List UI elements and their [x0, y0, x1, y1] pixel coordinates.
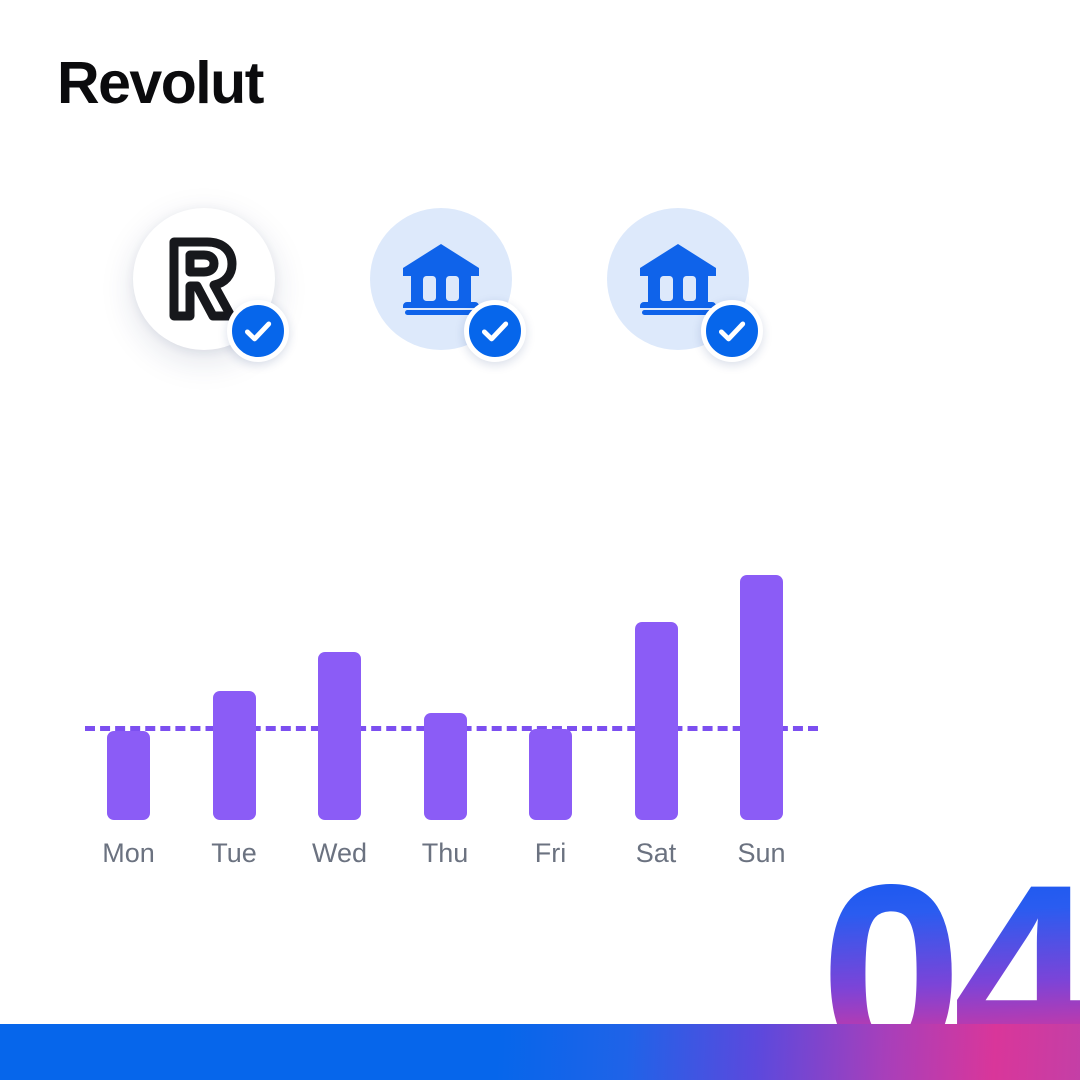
- x-axis-label: Thu: [400, 840, 490, 867]
- account-badge-revolut[interactable]: [133, 208, 275, 350]
- account-badge-bank-1[interactable]: [370, 208, 512, 350]
- chart-bar[interactable]: [107, 731, 150, 820]
- chart-bar[interactable]: [318, 652, 361, 820]
- check-icon: [478, 314, 512, 348]
- x-axis-label: Sat: [611, 840, 701, 867]
- bank-icon: [401, 242, 481, 316]
- check-icon: [241, 314, 275, 348]
- revolut-r-logo-icon: [165, 236, 243, 322]
- x-axis-label: Mon: [84, 840, 174, 867]
- chart-bar[interactable]: [529, 729, 572, 820]
- bottom-gradient-strip: [0, 1024, 1080, 1080]
- chart-x-axis: MonTueWedThuFriSatSun: [85, 840, 820, 880]
- verified-check-badge: [464, 300, 526, 362]
- x-axis-label: Fri: [506, 840, 596, 867]
- x-axis-label: Tue: [189, 840, 279, 867]
- linked-accounts-row: [0, 0, 1080, 420]
- chart-bar[interactable]: [740, 575, 783, 820]
- verified-check-badge: [227, 300, 289, 362]
- account-badge-bank-2[interactable]: [607, 208, 749, 350]
- chart-bar[interactable]: [635, 622, 678, 820]
- chart-plot-area: [85, 540, 820, 820]
- check-icon: [715, 314, 749, 348]
- chart-bar[interactable]: [213, 691, 256, 821]
- x-axis-label: Wed: [295, 840, 385, 867]
- poster-canvas: Revolut: [0, 0, 1080, 1080]
- bank-icon: [638, 242, 718, 316]
- chart-bar[interactable]: [424, 713, 467, 820]
- x-axis-label: Sun: [717, 840, 807, 867]
- verified-check-badge: [701, 300, 763, 362]
